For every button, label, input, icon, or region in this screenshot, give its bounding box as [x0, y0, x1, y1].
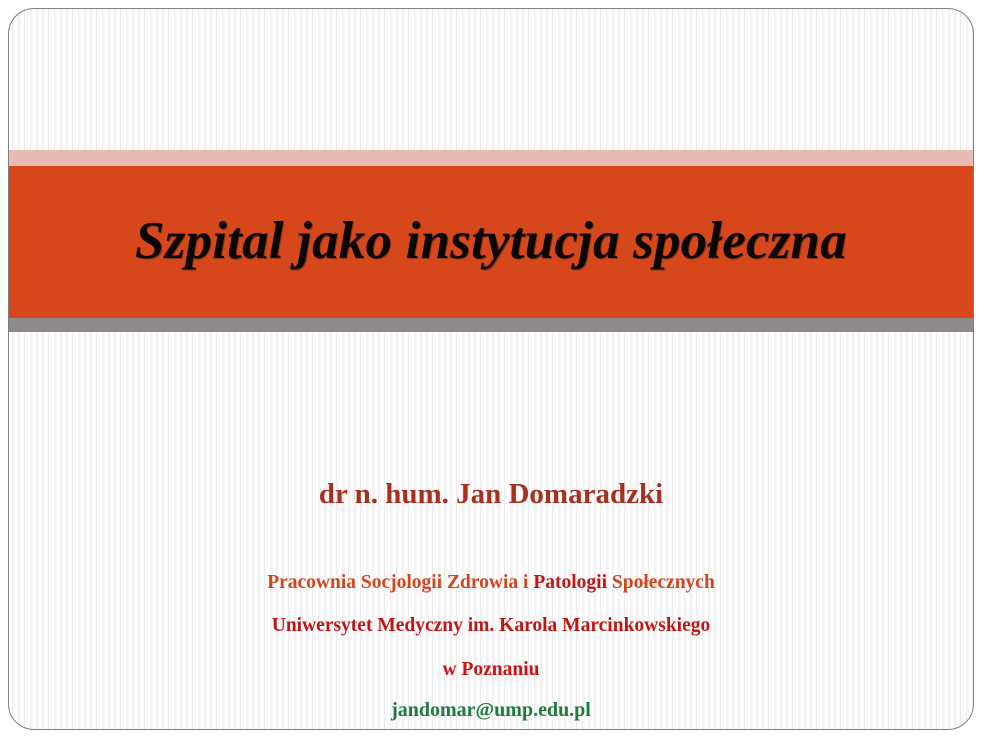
- affiliation-line-city: w Poznaniu: [9, 658, 973, 682]
- author-name: dr n. hum. Jan Domaradzki: [9, 477, 973, 512]
- author-email[interactable]: jandomar@ump.edu.pl: [9, 699, 973, 722]
- banner-accent-stripe-bottom: [9, 318, 973, 332]
- title-banner: Szpital jako instytucja społeczna: [9, 150, 973, 332]
- affiliation-department-part-2: Patologii: [533, 572, 607, 593]
- affiliation-line-department: Pracownia Socjologii Zdrowia i Patologii…: [9, 571, 973, 595]
- affiliation-department-part-1: Pracownia Socjologii Zdrowia i: [267, 572, 533, 593]
- affiliation-department-part-3: Społecznych: [607, 572, 715, 593]
- slide-title: Szpital jako instytucja społeczna: [125, 214, 857, 270]
- banner-title-block: Szpital jako instytucja społeczna: [9, 166, 973, 318]
- banner-accent-stripe-top: [9, 150, 973, 166]
- subtitle-block: dr n. hum. Jan Domaradzki Pracownia Socj…: [9, 477, 973, 730]
- affiliation-line-university: Uniwersytet Medyczny im. Karola Marcinko…: [9, 614, 973, 638]
- presentation-slide: Szpital jako instytucja społeczna dr n. …: [8, 8, 974, 730]
